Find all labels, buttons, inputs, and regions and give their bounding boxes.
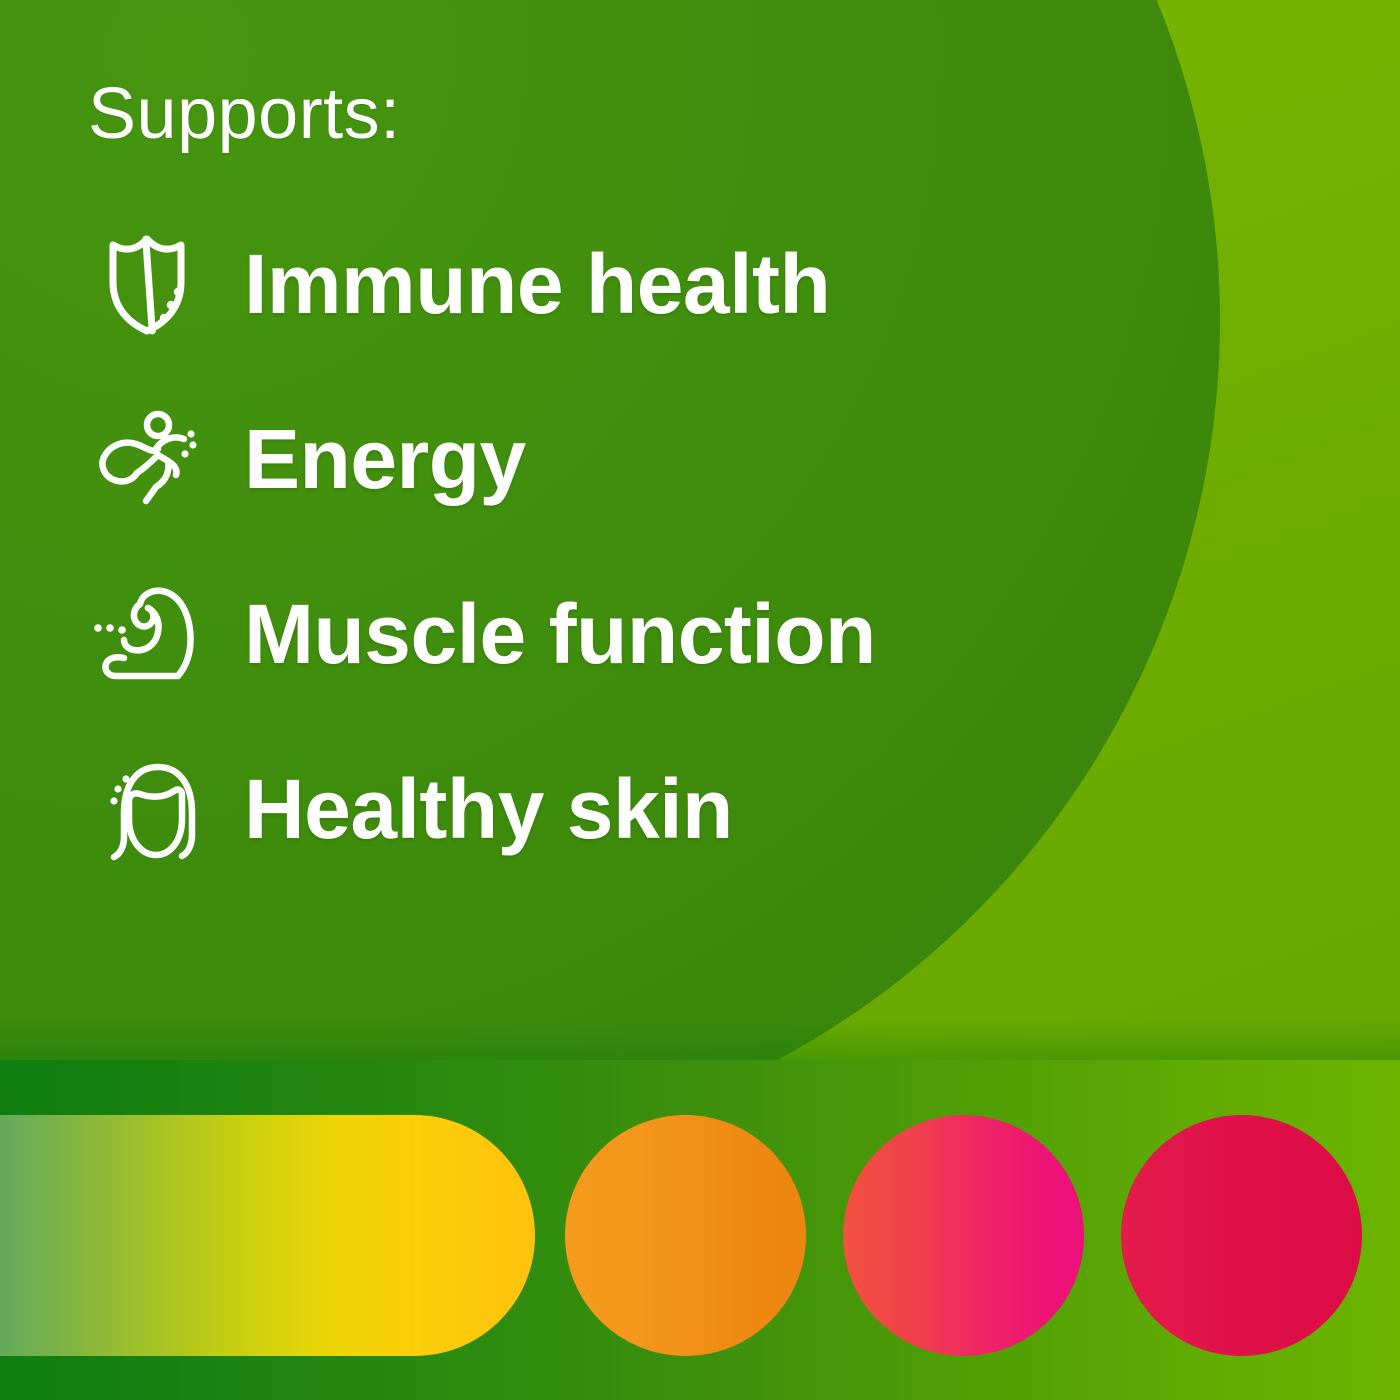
benefit-item-healthy-skin: Healthy skin [88, 721, 1188, 896]
crimson-dot-swatch [1121, 1115, 1362, 1356]
runner-icon [88, 399, 216, 519]
benefit-item-immune-health: Immune health [88, 196, 1188, 371]
benefit-item-energy: Energy [88, 371, 1188, 546]
supports-heading: Supports: [88, 78, 401, 150]
panel-content: Supports: Immune health [0, 0, 1400, 1400]
yellow-pill-swatch [0, 1115, 535, 1356]
benefit-label: Muscle function [244, 592, 876, 676]
supports-panel: Supports: Immune health [0, 0, 1400, 1400]
face-icon [88, 749, 216, 869]
benefit-label: Immune health [244, 242, 830, 326]
bicep-icon [88, 574, 216, 694]
benefit-list: Immune health [88, 196, 1188, 896]
orange-dot-swatch [565, 1115, 806, 1356]
benefit-label: Healthy skin [244, 767, 733, 851]
benefit-label: Energy [244, 417, 526, 501]
pink-dot-swatch [843, 1115, 1084, 1356]
benefit-item-muscle-function: Muscle function [88, 546, 1188, 721]
shield-icon [88, 224, 216, 344]
